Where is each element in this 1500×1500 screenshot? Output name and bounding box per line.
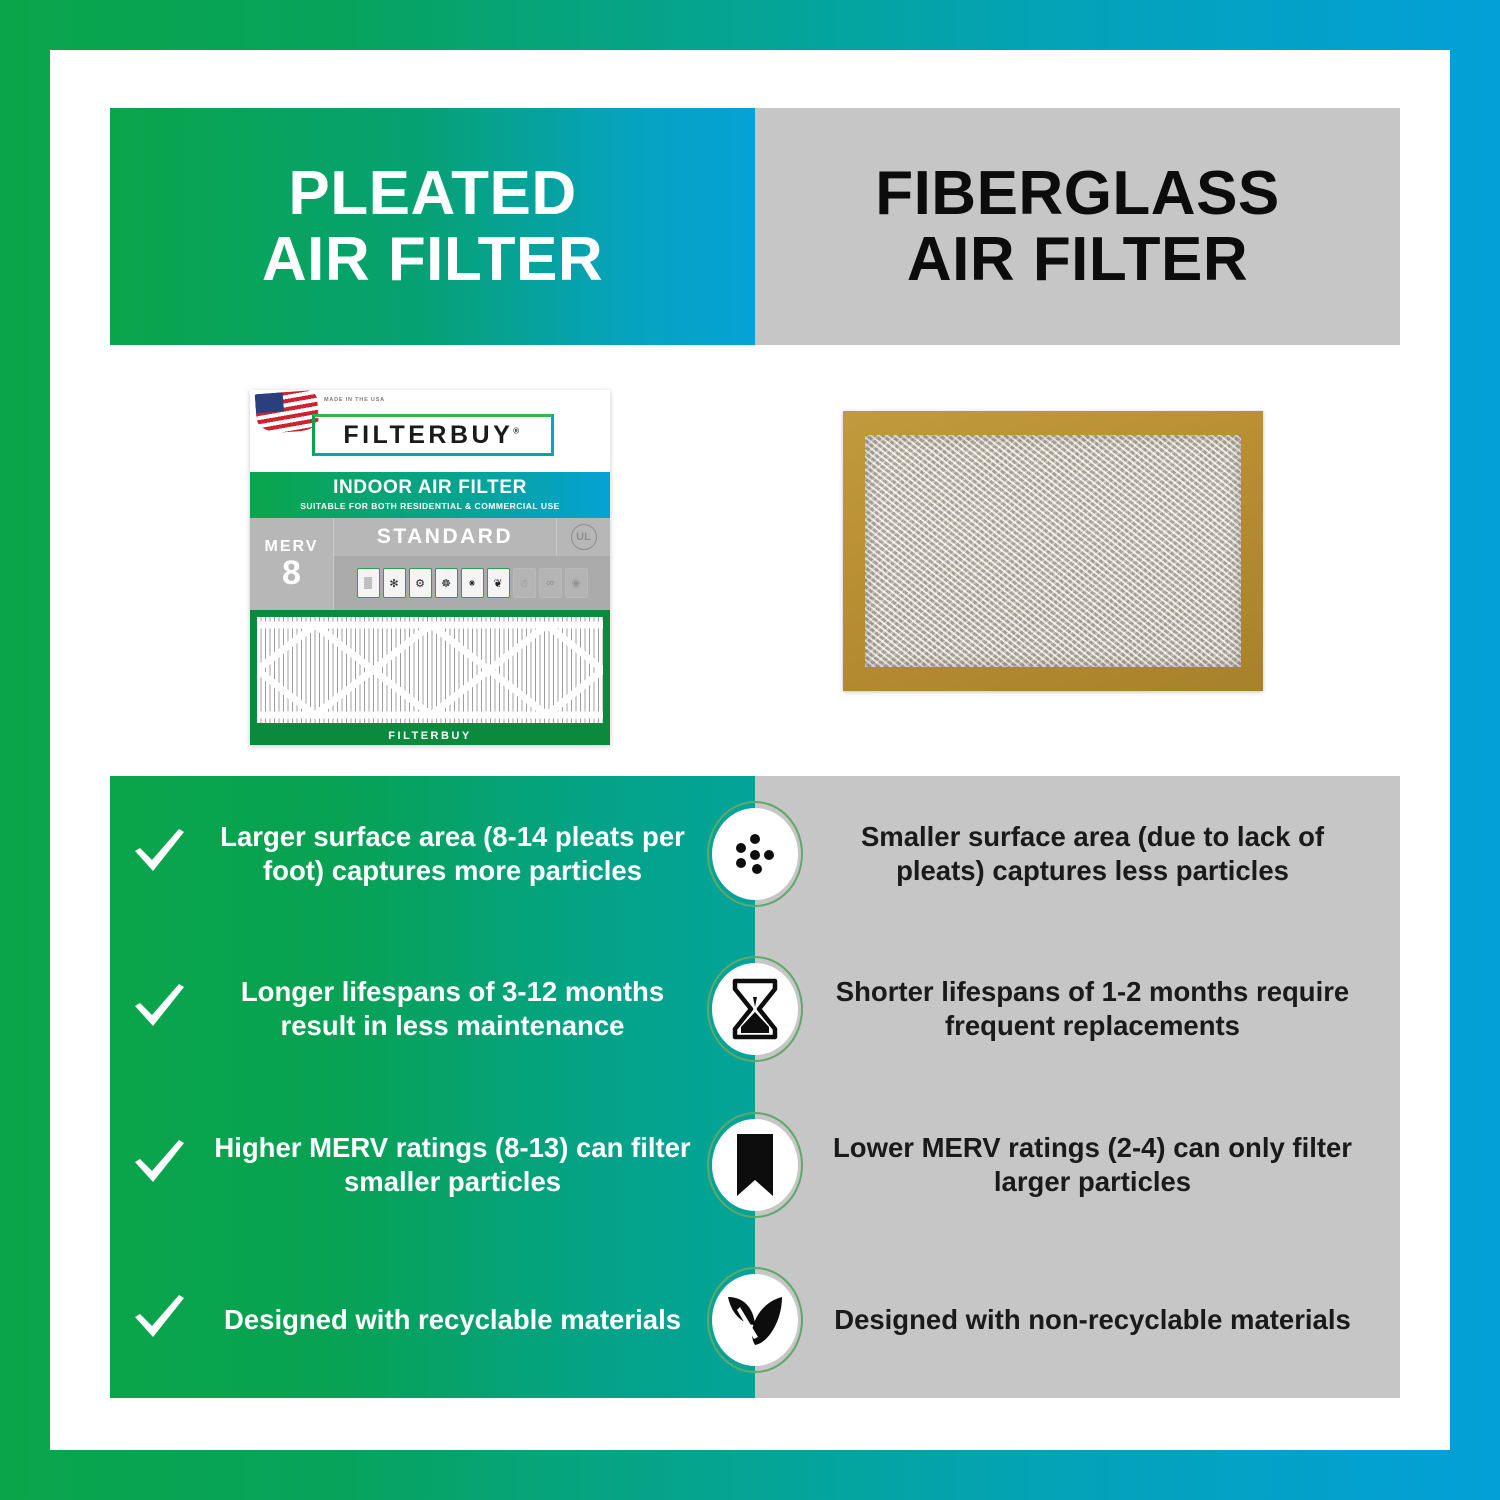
pleated-media-window: FILTERBUY [250,610,610,745]
dust-lint-icon: ▒ [357,568,380,598]
filter-bottom-brand: FILTERBUY [250,730,610,742]
filter-grade-label: STANDARD [334,525,556,549]
comparison-row: Larger surface area (8-14 pleats per foo… [110,776,1400,932]
pleated-feature-text: Higher MERV ratings (8-13) can filter sm… [208,1131,697,1199]
merv-value: 8 [282,556,301,590]
particles-icon [707,801,803,907]
merv-rating-block: MERV 8 [250,518,334,610]
pet-dander-icon: ❦ [487,568,510,598]
pleated-feature-cell: Designed with recyclable materials [110,1243,755,1399]
pleated-product-cell: MADE IN THE USA FILTERBUY® INDOOR AIR FI… [110,345,755,776]
fiberglass-header-title: FIBERGLASS AIR FILTER [875,161,1280,292]
fiberglass-feature-text: Lower MERV ratings (2-4) can only filter… [827,1131,1358,1199]
fiberglass-feature-text: Designed with non-recyclable materials [827,1303,1358,1337]
fiberglass-feature-cell: Shorter lifespans of 1-2 months require … [755,932,1400,1088]
fiberglass-product-cell [755,345,1400,776]
banner-secondary-line: SUITABLE FOR BOTH RESIDENTIAL & COMMERCI… [250,501,610,511]
filter-spec-strip: MERV 8 STANDARD UL ▒ ✻ ⚙ [250,518,610,610]
banner-primary-line: INDOOR AIR FILTER [250,477,610,499]
wire-mesh-diamond-pattern [257,617,603,723]
infographic-canvas: PLEATED AIR FILTER FIBERGLASS AIR FILTER… [110,108,1400,1398]
smoke-icon: ☃ [513,568,536,598]
pollen-icon: ✻ [383,568,406,598]
fiberglass-feature-text: Shorter lifespans of 1-2 months require … [827,975,1358,1043]
bookmark-icon [707,1112,803,1218]
checkmark-icon [110,1290,208,1350]
capability-icon-row: ▒ ✻ ⚙ ☸ ⁕ ❦ ☃ ∞ ❀ [334,556,610,610]
feature-comparison-panel: Larger surface area (8-14 pleats per foo… [110,776,1400,1398]
fiberglass-feature-cell: Smaller surface area (due to lack of ple… [755,776,1400,932]
ul-certification: UL [556,518,610,556]
hourglass-icon [707,956,803,1062]
filterbuy-logo-text: FILTERBUY® [343,421,522,450]
fiberglass-media-texture [865,435,1241,667]
checkmark-icon [110,979,208,1039]
made-in-usa-label: MADE IN THE USA [324,396,385,404]
product-image-area: MADE IN THE USA FILTERBUY® INDOOR AIR FI… [110,345,1400,776]
pleated-feature-text: Longer lifespans of 3-12 months result i… [208,975,697,1043]
pleat-texture [257,617,603,723]
fiberglass-filter-image [843,411,1263,691]
pleated-feature-text: Larger surface area (8-14 pleats per foo… [208,820,697,888]
dust-mites-icon: ⁕ [461,568,484,598]
fiberglass-feature-cell: Lower MERV ratings (2-4) can only filter… [755,1087,1400,1243]
fungi-icon: ☸ [435,568,458,598]
header-pleated-column: PLEATED AIR FILTER [110,108,755,345]
pleated-feature-cell: Longer lifespans of 3-12 months result i… [110,932,755,1088]
comparison-header: PLEATED AIR FILTER FIBERGLASS AIR FILTER [110,108,1400,345]
fiberglass-feature-cell: Designed with non-recyclable materials [755,1243,1400,1399]
pleated-feature-cell: Higher MERV ratings (8-13) can filter sm… [110,1087,755,1243]
pleated-header-title: PLEATED AIR FILTER [262,161,603,292]
filterbuy-filter-image: MADE IN THE USA FILTERBUY® INDOOR AIR FI… [250,390,610,745]
usa-flag-icon [255,390,320,434]
header-fiberglass-column: FIBERGLASS AIR FILTER [755,108,1400,345]
comparison-row: Designed with recyclable materials Desig… [110,1243,1400,1399]
checkmark-icon [110,1135,208,1195]
checkmark-icon [110,824,208,884]
pleated-feature-text: Designed with recyclable materials [208,1303,697,1337]
filter-spec-right: STANDARD UL ▒ ✻ ⚙ ☸ ⁕ ❦ ☃ [334,518,610,610]
bacteria-icon: ∞ [539,568,562,598]
filterbuy-logo-box: FILTERBUY® [312,414,554,456]
eco-leaf-icon [707,1267,803,1373]
comparison-row: Higher MERV ratings (8-13) can filter sm… [110,1087,1400,1243]
mold-spores-icon: ⚙ [409,568,432,598]
filter-box-top: MADE IN THE USA FILTERBUY® [250,390,610,472]
grade-row: STANDARD UL [334,518,610,556]
virus-icon: ❀ [565,568,588,598]
comparison-row: Longer lifespans of 3-12 months result i… [110,932,1400,1088]
ul-mark-icon: UL [571,524,597,550]
fiberglass-feature-text: Smaller surface area (due to lack of ple… [827,820,1358,888]
pleated-feature-cell: Larger surface area (8-14 pleats per foo… [110,776,755,932]
indoor-air-filter-banner: INDOOR AIR FILTER SUITABLE FOR BOTH RESI… [250,472,610,518]
